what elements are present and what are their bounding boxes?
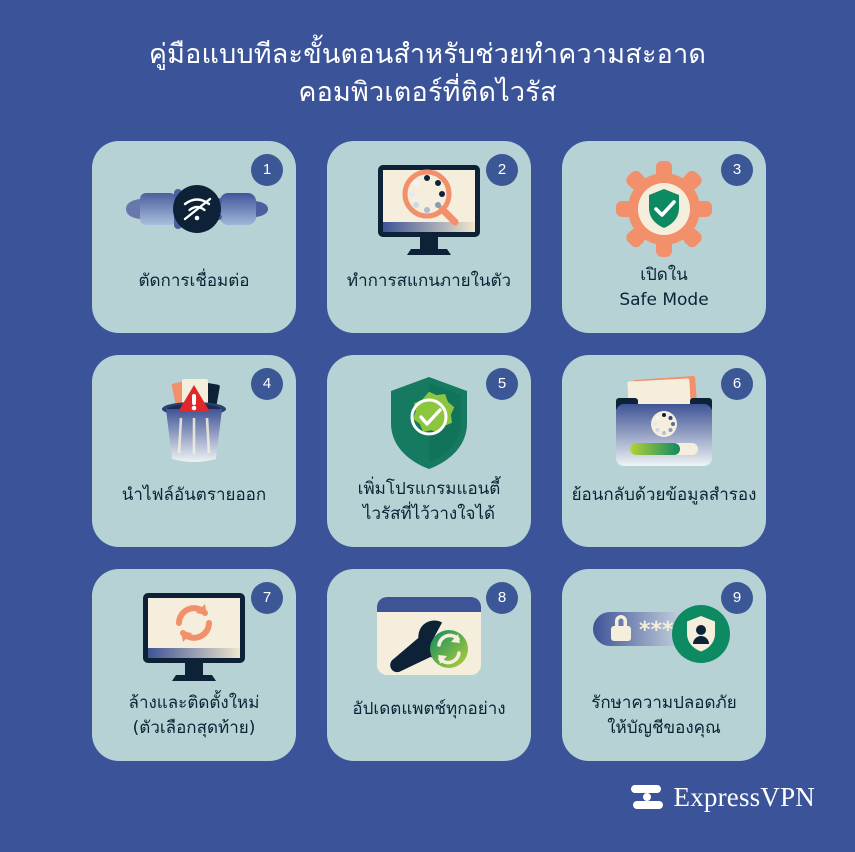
expressvpn-e-icon (629, 780, 663, 814)
expressvpn-logo: ExpressVPN (629, 780, 816, 814)
monitor-magnifier-scan-icon (327, 159, 531, 259)
step-caption: ล้างและติดตั้งใหม่ (ตัวเลือกสุดท้าย) (98, 689, 290, 761)
caption-line-1: เพิ่มโปรแกรมแอนตี้ (358, 477, 501, 502)
steps-grid: 1 (92, 141, 766, 761)
title-line-1: คู่มือแบบทีละขั้นตอนสำหรับช่วยทำความสะอา… (0, 36, 855, 74)
step-caption: เปิดใน Safe Mode (568, 261, 760, 333)
window-wrench-update-icon (327, 587, 531, 687)
step-card-9[interactable]: 9 ***** (562, 569, 766, 761)
gear-shield-check-icon (562, 159, 766, 259)
password-lock-shield-person-icon: ***** (562, 587, 766, 687)
caption-line-1: ล้างและติดตั้งใหม่ (129, 691, 260, 716)
green-shield-verified-badge-icon (327, 373, 531, 473)
step-caption: ทำการสแกนภายในตัว (333, 267, 525, 333)
caption-line-1: รักษาความปลอดภัย (591, 691, 736, 716)
monitor-refresh-reinstall-icon (92, 587, 296, 687)
caption-line-1: ตัดการเชื่อมต่อ (138, 269, 249, 294)
expressvpn-wordmark: ExpressVPN (674, 782, 816, 813)
step-caption: อัปเดตแพตช์ทุกอย่าง (333, 695, 525, 761)
step-card-2[interactable]: 2 (327, 141, 531, 333)
caption-line-1: ทำการสแกนภายในตัว (347, 269, 511, 294)
caption-line-1: นำไฟล์อันตรายออก (122, 483, 266, 508)
caption-line-1: อัปเดตแพตช์ทุกอย่าง (352, 697, 505, 722)
step-card-4[interactable]: 4 (92, 355, 296, 547)
caption-line-1: เปิดใน (640, 263, 688, 288)
caption-line-2: ให้บัญชีของคุณ (607, 716, 721, 741)
page-title: คู่มือแบบทีละขั้นตอนสำหรับช่วยทำความสะอา… (0, 36, 855, 112)
infographic-page: คู่มือแบบทีละขั้นตอนสำหรับช่วยทำความสะอา… (0, 0, 855, 852)
step-card-7[interactable]: 7 (92, 569, 296, 761)
unplugged-cable-wifi-off-icon (92, 159, 296, 259)
caption-line-2: ไวรัสที่ไว้วางใจได้ (363, 502, 495, 527)
step-caption: ตัดการเชื่อมต่อ (98, 267, 290, 333)
caption-line-1: ย้อนกลับด้วยข้อมูลสำรอง (572, 483, 757, 508)
step-card-8[interactable]: 8 (327, 569, 531, 761)
caption-line-2: Safe Mode (619, 288, 708, 313)
step-card-6[interactable]: 6 (562, 355, 766, 547)
title-line-2: คอมพิวเตอร์ที่ติดไวรัส (0, 74, 855, 112)
step-caption: รักษาความปลอดภัย ให้บัญชีของคุณ (568, 689, 760, 761)
step-card-5[interactable]: 5 เพิ่มโปรแกรมแอนตี้ ไวรัสที่ไว้วางใจได้ (327, 355, 531, 547)
step-card-1[interactable]: 1 (92, 141, 296, 333)
caption-line-2: (ตัวเลือกสุดท้าย) (133, 716, 256, 741)
trash-bin-warning-files-icon (92, 373, 296, 473)
step-caption: เพิ่มโปรแกรมแอนตี้ ไวรัสที่ไว้วางใจได้ (333, 475, 525, 547)
step-card-3[interactable]: 3 (562, 141, 766, 333)
step-caption: ย้อนกลับด้วยข้อมูลสำรอง (568, 481, 760, 547)
step-caption: นำไฟล์อันตรายออก (98, 481, 290, 547)
backup-box-progress-icon (562, 373, 766, 473)
